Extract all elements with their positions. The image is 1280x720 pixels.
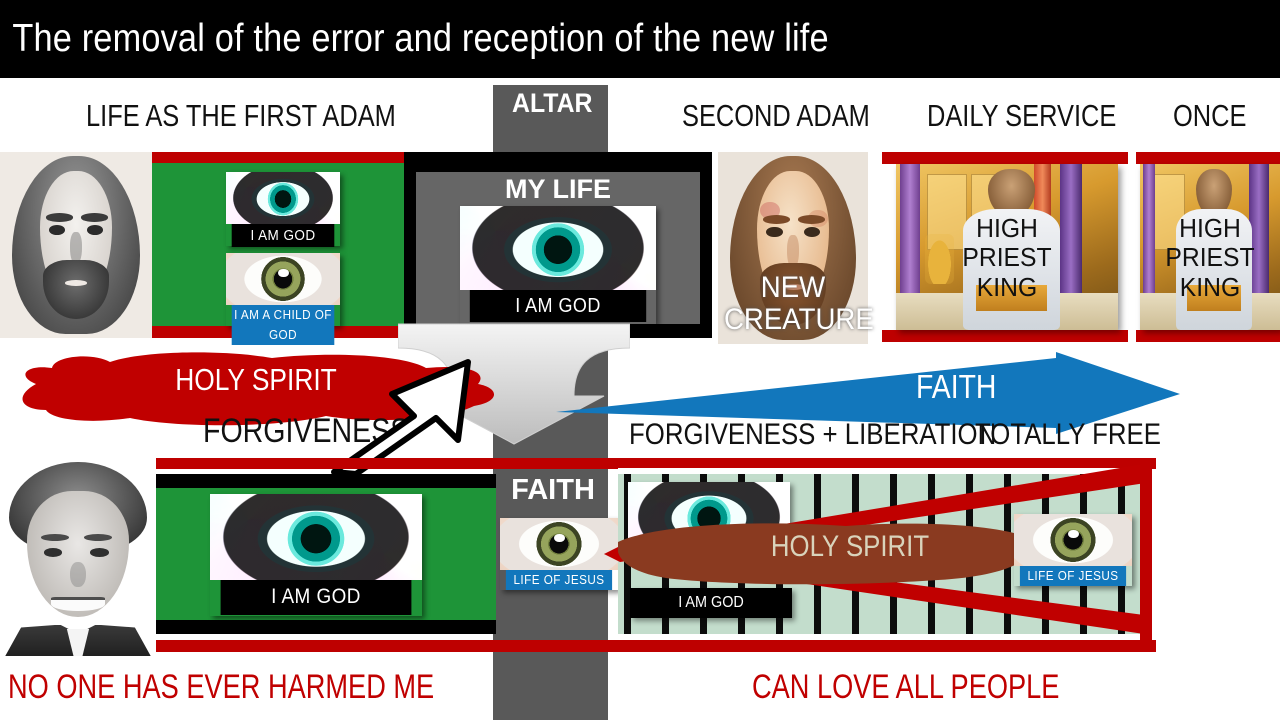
priest-panel-1-top-red-bar: [882, 152, 1128, 164]
tile-caption: I AM GOD: [232, 224, 335, 247]
bottom-top-black-bar: [156, 474, 496, 488]
temple-photo-1: HIGH PRIEST KING: [896, 164, 1118, 330]
tile-caption: I AM GOD: [221, 580, 412, 615]
eye-left: [49, 225, 66, 235]
jesus-portrait-grayscale: [0, 152, 152, 338]
column-header-second-adam: SECOND ADAM: [682, 98, 870, 134]
holy-spirit-blob-label: HOLY SPIRIT: [721, 530, 979, 564]
tile-caption: LIFE OF JESUS: [506, 570, 612, 590]
priest-panel-1-label: HIGH PRIEST KING: [902, 214, 1113, 303]
eyebrow-left: [763, 215, 790, 224]
human-eye-image: [1014, 514, 1132, 566]
tile-life-of-jesus-right: LIFE OF JESUS: [1014, 514, 1132, 586]
column-header-first-adam: LIFE AS THE FIRST ADAM: [86, 98, 396, 134]
nose-shape: [70, 562, 86, 587]
mosaic-eye-image: [210, 494, 422, 580]
human-eye-image: [226, 253, 340, 305]
priest-panel-2-bottom-red-bar: [1136, 330, 1280, 342]
hpk-line2: PRIEST: [902, 243, 1113, 273]
column-header-altar: ALTAR: [512, 88, 592, 119]
eye-left: [766, 227, 783, 238]
priest-panel-1-bottom-red-bar: [882, 330, 1128, 342]
eyebrow-right: [798, 215, 825, 224]
title-bar: The removal of the error and reception o…: [0, 0, 1280, 78]
slide-canvas: The removal of the error and reception o…: [0, 0, 1280, 720]
caption-right: CAN LOVE ALL PEOPLE: [752, 668, 1059, 707]
man-portrait-photo: [0, 460, 156, 656]
forgiveness-liberation-label: FORGIVENESS + LIBERATION: [629, 418, 996, 452]
page-title: The removal of the error and reception o…: [0, 17, 829, 61]
priest-panel-2-top-red-bar: [1136, 152, 1280, 164]
tile-i-am-god-top: I AM GOD: [226, 172, 340, 246]
cell-right-red-bar: [1140, 458, 1152, 652]
faith-panel-heading: FAITH: [498, 474, 608, 516]
bottom-bottom-black-bar: [156, 620, 496, 634]
mosaic-eye-image: [226, 172, 340, 224]
new-creature-line1: NEW: [724, 272, 862, 304]
column-header-once: ONCE: [1173, 98, 1246, 134]
tile-life-of-jesus-center: LIFE OF JESUS: [500, 518, 618, 590]
green-panel-top-red-bar: [152, 152, 410, 163]
tile-bottom-i-am-god: I AM GOD: [210, 494, 422, 616]
tile-my-life-i-am-god: I AM GOD: [460, 206, 656, 324]
eyebrow-right: [81, 213, 108, 221]
hpk-line2: PRIEST: [1144, 243, 1277, 273]
mouth-shape: [65, 280, 86, 286]
hpk-line3: KING: [1144, 273, 1277, 303]
hpk-line3: KING: [902, 273, 1113, 303]
tile-caption: I AM GOD: [470, 290, 646, 322]
priest-panel-2-label: HIGH PRIEST KING: [1144, 214, 1277, 303]
temple-photo-2: HIGH PRIEST KING: [1140, 164, 1280, 330]
new-creature-line2: CREATURE: [724, 304, 862, 336]
totally-free-label: TOTALLY FREE: [975, 418, 1161, 452]
tile-caption: I AM A CHILD OF GOD: [232, 305, 335, 345]
caption-left: NO ONE HAS EVER HARMED ME: [8, 668, 434, 707]
tile-i-am-a-child-of-god: I AM A CHILD OF GOD: [226, 253, 340, 326]
column-header-daily-service: DAILY SERVICE: [927, 98, 1116, 134]
my-life-heading: MY LIFE: [416, 174, 700, 208]
eye-right: [87, 225, 104, 235]
hpk-line1: HIGH: [1144, 214, 1277, 244]
mosaic-eye-image: [460, 206, 656, 290]
new-creature-label: NEW CREATURE: [724, 272, 862, 337]
human-eye-image: [500, 518, 618, 570]
tile-caption: LIFE OF JESUS: [1020, 566, 1126, 586]
mouth-shape: [51, 597, 104, 611]
eyebrow-left: [46, 213, 73, 221]
hpk-line1: HIGH: [902, 214, 1113, 244]
faith-arrow-label: FAITH: [916, 368, 996, 406]
